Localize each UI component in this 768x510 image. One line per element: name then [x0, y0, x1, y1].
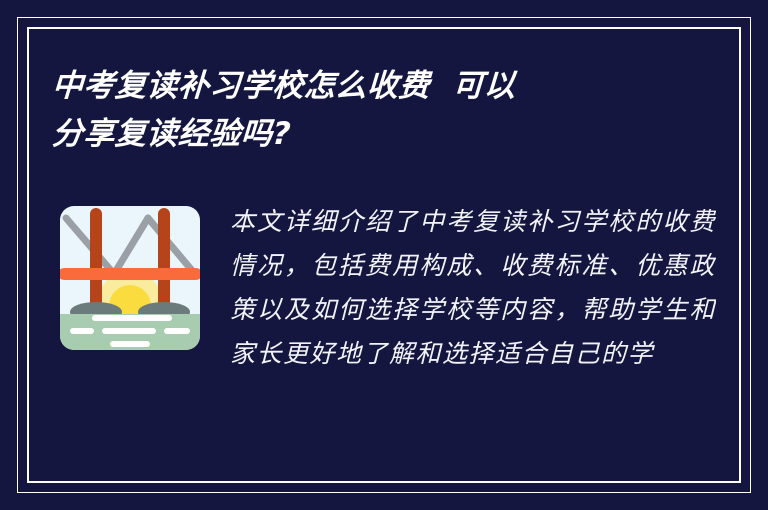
suspension-bridge-sunset-illustration: [52, 196, 208, 360]
article-summary-text: 本文详细介绍了中考复读补习学校的收费情况，包括费用构成、收费标准、优惠政策以及如…: [230, 196, 716, 376]
page-title-line-1: 中考复读补习学校怎么收费 可以: [51, 62, 674, 110]
page-title: 中考复读补习学校怎么收费 可以 分享复读经验吗?: [52, 62, 672, 158]
article-cover-card: 中考复读补习学校怎么收费 可以 分享复读经验吗?: [0, 0, 768, 510]
page-title-line-2: 分享复读经验吗?: [51, 110, 674, 158]
content-row: 本文详细介绍了中考复读补习学校的收费情况，包括费用构成、收费标准、优惠政策以及如…: [52, 196, 716, 376]
